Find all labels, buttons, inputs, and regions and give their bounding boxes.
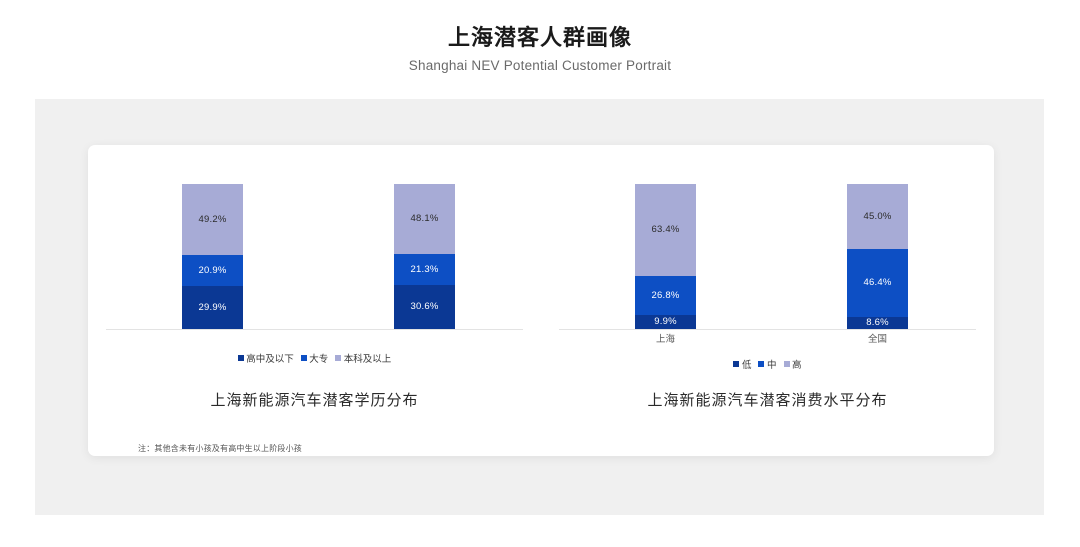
x-axis-labels-education xyxy=(88,331,541,347)
charts-card: 49.2% 20.9% 29.9% 48.1% 21.3% 30.6% 高中及以… xyxy=(88,145,994,456)
plot-area-consumption: 63.4% 26.8% 9.9% 45.0% 46.4% 8.6% xyxy=(541,185,994,330)
legend-swatch-icon xyxy=(733,361,739,367)
legend-swatch-icon xyxy=(238,355,244,361)
bar-segment-medium[interactable]: 26.8% xyxy=(635,276,696,315)
legend-label: 大专 xyxy=(309,351,328,365)
bar-segment-college[interactable]: 20.9% xyxy=(182,255,243,285)
legend-swatch-icon xyxy=(335,355,341,361)
legend-item-medium[interactable]: 中 xyxy=(758,357,776,371)
bar-segment-medium[interactable]: 46.4% xyxy=(847,249,908,316)
legend-swatch-icon xyxy=(784,361,790,367)
chart-caption-education: 上海新能源汽车潜客学历分布 xyxy=(88,389,541,410)
x-tick-label-shanghai: 上海 xyxy=(635,331,696,345)
legend-label: 高中及以下 xyxy=(246,351,294,365)
footnote: 注：其他含未有小孩及有高中生以上阶段小孩 xyxy=(138,443,302,454)
bar-segment-bachelor-plus[interactable]: 48.1% xyxy=(394,184,455,254)
page-title: 上海潜客人群画像 xyxy=(0,24,1080,52)
plot-area-education: 49.2% 20.9% 29.9% 48.1% 21.3% 30.6% xyxy=(88,185,541,330)
legend-item-bachelor-plus[interactable]: 本科及以上 xyxy=(335,351,391,365)
bar-segment-highschool-below[interactable]: 29.9% xyxy=(182,286,243,329)
bar-segment-high[interactable]: 63.4% xyxy=(635,184,696,276)
legend-label: 低 xyxy=(742,357,752,371)
bar-segment-high[interactable]: 45.0% xyxy=(847,184,908,249)
x-axis-line xyxy=(559,329,976,330)
bar-stack-education-2[interactable]: 48.1% 21.3% 30.6% xyxy=(394,184,455,329)
legend-item-low[interactable]: 低 xyxy=(733,357,751,371)
bar-stack-consumption-national[interactable]: 45.0% 46.4% 8.6% xyxy=(847,184,908,329)
bar-segment-low[interactable]: 9.9% xyxy=(635,315,696,329)
x-tick-label-national: 全国 xyxy=(847,331,908,345)
legend-label: 本科及以上 xyxy=(344,351,392,365)
chart-consumption-distribution: 63.4% 26.8% 9.9% 45.0% 46.4% 8.6% 上海 全国 … xyxy=(541,145,994,456)
legend-swatch-icon xyxy=(301,355,307,361)
bar-stack-education-1[interactable]: 49.2% 20.9% 29.9% xyxy=(182,184,243,329)
bar-segment-highschool-below[interactable]: 30.6% xyxy=(394,285,455,329)
bar-segment-low[interactable]: 8.6% xyxy=(847,317,908,329)
chart-education-distribution: 49.2% 20.9% 29.9% 48.1% 21.3% 30.6% 高中及以… xyxy=(88,145,541,456)
x-axis-line xyxy=(106,329,523,330)
legend-label: 中 xyxy=(767,357,777,371)
legend-swatch-icon xyxy=(758,361,764,367)
legend-item-high[interactable]: 高 xyxy=(784,357,802,371)
legend-item-highschool-below[interactable]: 高中及以下 xyxy=(238,351,294,365)
title-block: 上海潜客人群画像 Shanghai NEV Potential Customer… xyxy=(0,24,1080,76)
legend-item-college[interactable]: 大专 xyxy=(301,351,329,365)
bar-stack-consumption-shanghai[interactable]: 63.4% 26.8% 9.9% xyxy=(635,184,696,329)
legend-label: 高 xyxy=(792,357,802,371)
page-subtitle: Shanghai NEV Potential Customer Portrait xyxy=(0,56,1080,76)
x-axis-labels-consumption: 上海 全国 xyxy=(541,331,994,347)
legend-education: 高中及以下 大专 本科及以上 xyxy=(88,351,541,365)
bar-segment-college[interactable]: 21.3% xyxy=(394,254,455,285)
legend-consumption: 低 中 高 xyxy=(541,357,994,371)
chart-caption-consumption: 上海新能源汽车潜客消费水平分布 xyxy=(541,389,994,410)
bar-segment-bachelor-plus[interactable]: 49.2% xyxy=(182,184,243,255)
